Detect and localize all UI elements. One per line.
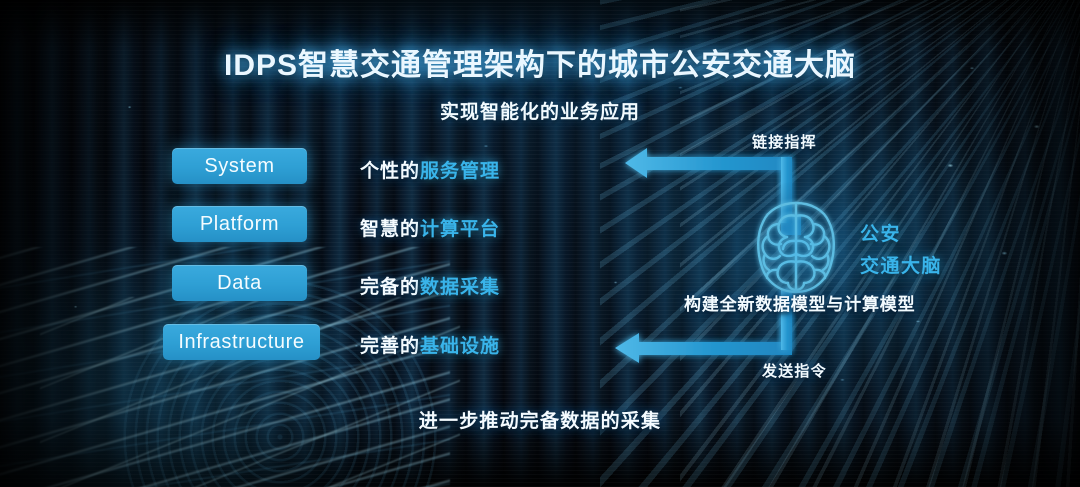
stack-row-highlight: 数据采集 <box>420 277 500 298</box>
stack-row-prefix: 个性的 <box>360 161 420 182</box>
brain-label-line2: 交通大脑 <box>860 251 942 278</box>
stack-row-label-system: 个性的服务管理 <box>360 156 500 183</box>
page-subtitle: 实现智能化的业务应用 <box>0 97 1080 124</box>
stack-row-prefix: 完备的 <box>360 277 420 298</box>
stack-button-label: Infrastructure <box>178 331 304 354</box>
bottom-caption: 进一步推动完备数据的采集 <box>0 406 1080 433</box>
stack-row-highlight: 服务管理 <box>420 161 500 182</box>
stack-row-label-platform: 智慧的计算平台 <box>360 214 500 241</box>
stack-row-highlight: 基础设施 <box>420 336 500 357</box>
stack-button-infrastructure[interactable]: Infrastructure <box>163 324 320 360</box>
arrow-label-send-instruction: 发送指令 <box>762 360 827 381</box>
brain-icon-container <box>748 196 844 300</box>
brain-caption: 构建全新数据模型与计算模型 <box>684 290 915 315</box>
brain-label-line1: 公安 <box>860 219 901 246</box>
page-title: IDPS智慧交通管理架构下的城市公安交通大脑 <box>0 40 1080 84</box>
stack-row-prefix: 智慧的 <box>360 219 420 240</box>
stack-button-data[interactable]: Data <box>172 265 307 301</box>
stack-button-platform[interactable]: Platform <box>172 206 307 242</box>
stack-button-label: System <box>204 155 274 178</box>
content-layer: IDPS智慧交通管理架构下的城市公安交通大脑 实现智能化的业务应用 System… <box>0 0 1080 487</box>
slide-canvas: IDPS智慧交通管理架构下的城市公安交通大脑 实现智能化的业务应用 System… <box>0 0 1080 487</box>
stack-button-label: Data <box>217 272 262 295</box>
stack-button-system[interactable]: System <box>172 148 307 184</box>
stack-button-label: Platform <box>200 213 279 236</box>
stack-row-label-infrastructure: 完善的基础设施 <box>360 331 500 358</box>
arrow-label-link-command: 链接指挥 <box>752 131 817 152</box>
stack-row-highlight: 计算平台 <box>420 219 500 240</box>
stack-row-prefix: 完善的 <box>360 336 420 357</box>
stack-row-label-data: 完备的数据采集 <box>360 272 500 299</box>
